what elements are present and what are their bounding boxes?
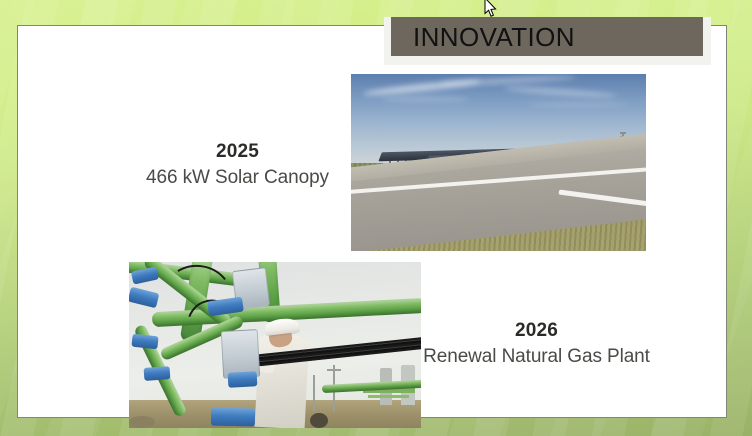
blue-valve-actuator [228, 371, 258, 387]
background-green-pipe [368, 395, 409, 398]
utility-pole [313, 375, 315, 412]
slide-content-frame: 2025 466 kW Solar Canopy [17, 25, 727, 418]
cloud-shape [504, 85, 616, 99]
slide-title-container: INNOVATION [384, 17, 711, 65]
cloud-shape [439, 74, 575, 86]
road-marking-line [558, 189, 646, 216]
worker-figure [255, 334, 309, 428]
year-label-2025: 2025 [106, 139, 369, 165]
year-label-2026: 2026 [416, 318, 657, 344]
image-solar-canopy[interactable] [351, 74, 646, 251]
cloud-shape [381, 97, 470, 101]
ground-detail [129, 416, 155, 428]
slide-title-box: INNOVATION [391, 17, 703, 56]
ground-detail [310, 413, 328, 428]
blue-valve-actuator [211, 408, 255, 427]
page-title: INNOVATION [391, 24, 575, 50]
image-rng-plant[interactable] [129, 262, 421, 428]
description-label-2026: Renewal Natural Gas Plant [416, 344, 657, 369]
slide-canvas: 2025 466 kW Solar Canopy [0, 0, 752, 436]
cloud-shape [528, 103, 628, 107]
caption-block-2026: 2026 Renewal Natural Gas Plant [416, 318, 657, 369]
caption-block-2025: 2025 466 kW Solar Canopy [106, 139, 369, 190]
description-label-2025: 466 kW Solar Canopy [106, 165, 369, 190]
blue-valve-actuator [143, 366, 170, 381]
